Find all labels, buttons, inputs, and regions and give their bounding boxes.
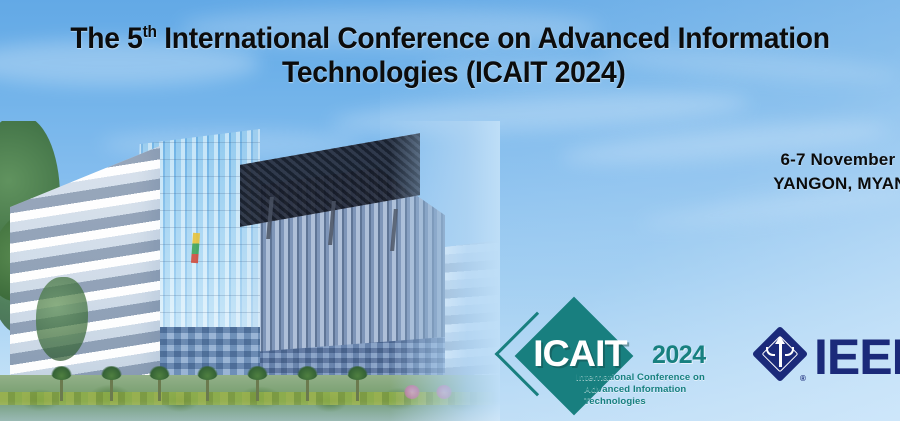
ieee-kite-icon: ® — [756, 330, 812, 386]
icait-year: 2024 — [652, 341, 706, 370]
event-date: 6-7 November 2024 — [773, 148, 900, 172]
icait-wordmark: ICAIT — [533, 333, 626, 375]
palm-tree — [256, 375, 259, 401]
conference-title: The 5th International Conference on Adva… — [27, 22, 873, 90]
photo-bottom-fade — [0, 401, 500, 421]
icait-subtitle-line-2: Advanced Information Technologies — [576, 384, 731, 408]
icait-subtitle: International Conference on Advanced Inf… — [576, 372, 731, 408]
palm-tree — [60, 375, 63, 401]
conference-banner: The 5th International Conference on Adva… — [0, 0, 900, 421]
palm-tree — [356, 375, 359, 401]
palm-tree — [306, 375, 309, 401]
ieee-logo: ® IEEE — [756, 326, 900, 392]
photo-right-fade — [390, 121, 500, 421]
title-line-1: The 5th International Conference on Adva… — [27, 22, 873, 56]
event-details: 6-7 November 2024 YANGON, MYANMAR — [773, 148, 900, 196]
icait-subtitle-line-1: International Conference on — [576, 372, 731, 384]
ordinal-suffix: th — [143, 23, 157, 41]
title-remainder: International Conference on Advanced Inf… — [157, 22, 830, 55]
campus-building-photo — [0, 121, 500, 421]
ieee-wordmark: IEEE — [814, 332, 900, 382]
title-prefix: The 5 — [70, 22, 142, 55]
icait-logo: ICAIT 2024 International Conference on A… — [506, 312, 731, 404]
palm-tree — [110, 375, 113, 401]
title-line-2: Technologies (ICAIT 2024) — [27, 56, 873, 90]
ieee-arrow-shape — [779, 341, 782, 367]
palm-tree — [206, 375, 209, 401]
event-location: YANGON, MYANMAR — [773, 172, 900, 196]
registered-trademark-icon: ® — [800, 374, 806, 383]
palm-tree — [158, 375, 161, 401]
